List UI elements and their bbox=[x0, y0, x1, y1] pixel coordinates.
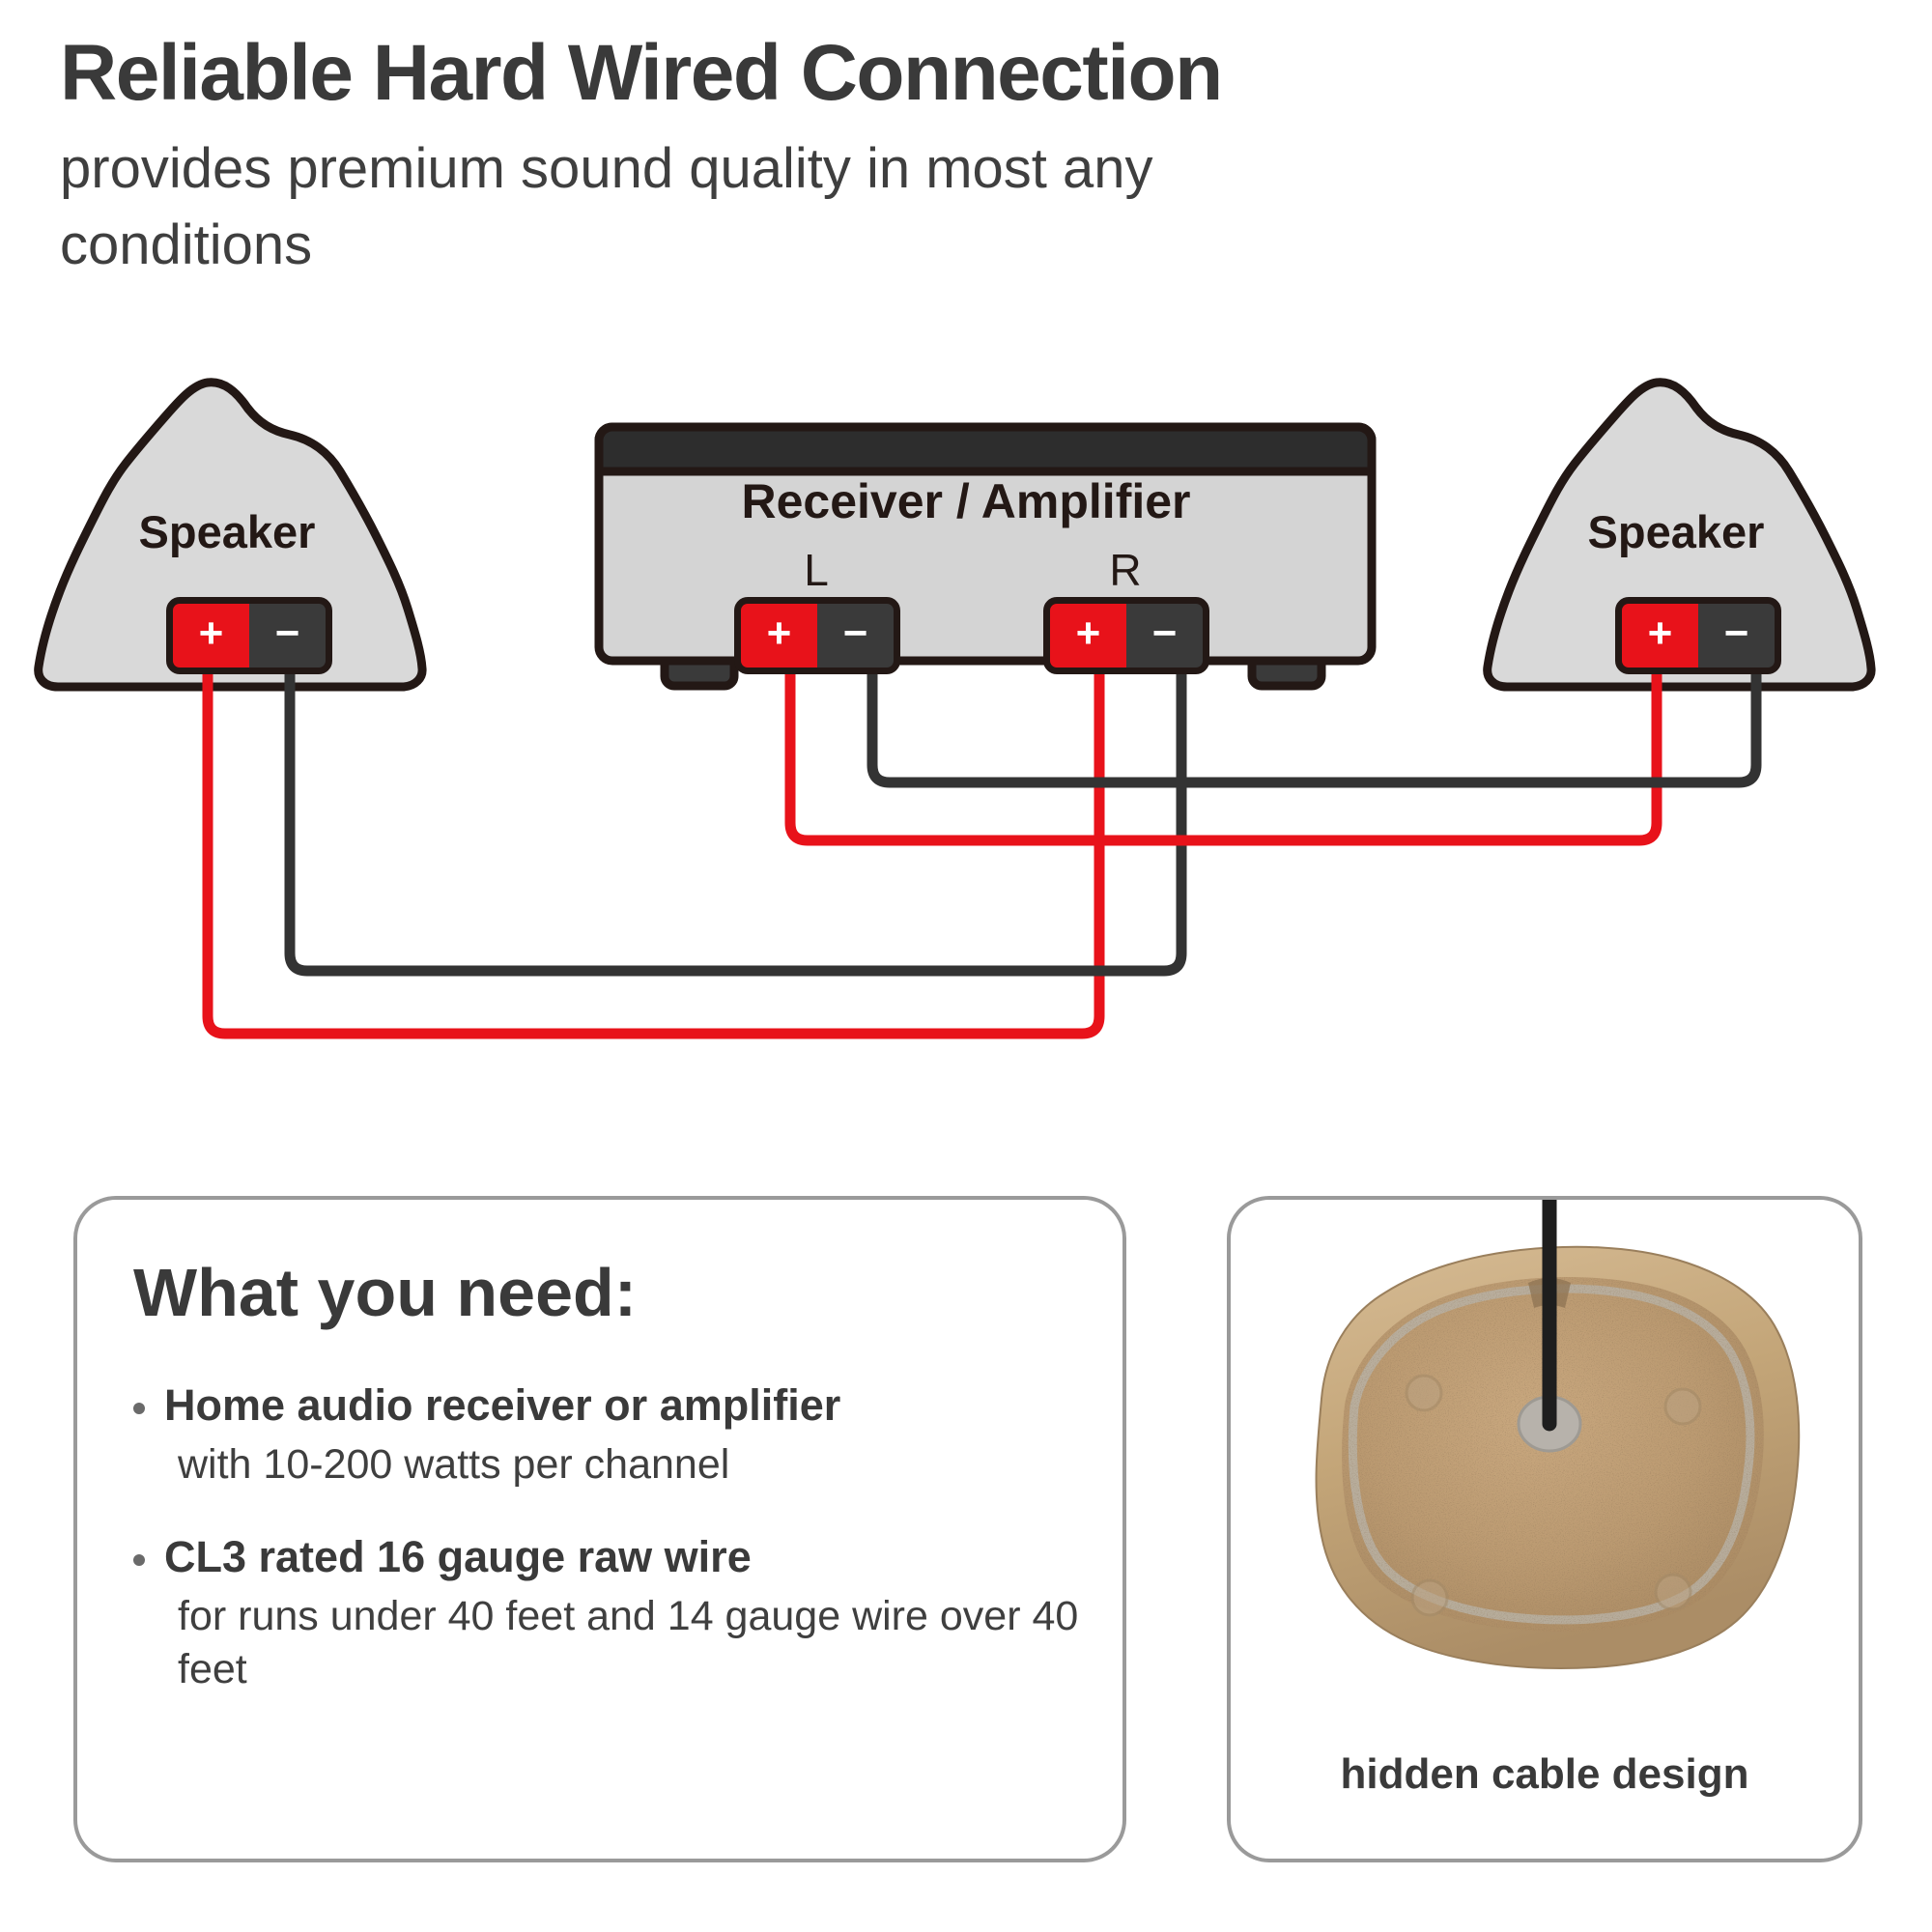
negative-sign: − bbox=[1724, 612, 1749, 655]
speaker-left-positive-terminal[interactable]: + bbox=[173, 604, 249, 668]
wire-red-right bbox=[790, 674, 1657, 840]
wire-dark-left bbox=[290, 674, 1181, 971]
hidden-cable-panel: hidden cable design bbox=[1227, 1196, 1862, 1862]
amp-left-positive-terminal[interactable]: + bbox=[741, 604, 817, 668]
page-subtitle: provides premium sound quality in most a… bbox=[60, 131, 1277, 284]
amp-right-terminal-block[interactable]: + − bbox=[1043, 597, 1209, 674]
speaker-left-terminal-block[interactable]: + − bbox=[166, 597, 332, 674]
speaker-right-terminal-block[interactable]: + − bbox=[1615, 597, 1781, 674]
receiver-top-bar bbox=[599, 427, 1372, 471]
list-item-detail: for runs under 40 feet and 14 gauge wire… bbox=[164, 1590, 1084, 1694]
list-item-heading: Home audio receiver or amplifier bbox=[164, 1379, 1084, 1431]
hidden-cable-caption: hidden cable design bbox=[1231, 1750, 1859, 1799]
amp-right-positive-terminal[interactable]: + bbox=[1050, 604, 1126, 668]
page-title: Reliable Hard Wired Connection bbox=[60, 33, 1876, 114]
negative-sign: − bbox=[275, 612, 300, 655]
wire-red-left bbox=[208, 674, 1099, 1034]
positive-sign: + bbox=[767, 612, 792, 655]
positive-sign: + bbox=[199, 612, 224, 655]
list-item: Home audio receiver or amplifier with 10… bbox=[120, 1379, 1084, 1491]
what-you-need-title: What you need: bbox=[133, 1254, 637, 1331]
what-you-need-panel: What you need: Home audio receiver or am… bbox=[73, 1196, 1126, 1862]
diagram-graphics bbox=[0, 367, 1932, 1063]
speaker-left-negative-terminal[interactable]: − bbox=[249, 604, 326, 668]
negative-sign: − bbox=[1152, 612, 1178, 655]
list-item-detail: with 10-200 watts per channel bbox=[164, 1438, 1084, 1491]
speaker-right-label: Speaker bbox=[1555, 505, 1797, 558]
channel-right-label: R bbox=[1082, 544, 1169, 596]
positive-sign: + bbox=[1076, 612, 1101, 655]
header: Reliable Hard Wired Connection provides … bbox=[60, 33, 1876, 283]
amp-left-terminal-block[interactable]: + − bbox=[734, 597, 900, 674]
wiring-diagram: Speaker Speaker Receiver / Amplifier L R… bbox=[0, 367, 1932, 1063]
channel-left-label: L bbox=[773, 544, 860, 596]
list-item: CL3 rated 16 gauge raw wire for runs und… bbox=[120, 1531, 1084, 1694]
amp-right-negative-terminal[interactable]: − bbox=[1126, 604, 1203, 668]
receiver-title: Receiver / Amplifier bbox=[599, 473, 1333, 529]
rock-speaker-underside-photo bbox=[1231, 1200, 1862, 1741]
positive-sign: + bbox=[1648, 612, 1673, 655]
list-item-heading: CL3 rated 16 gauge raw wire bbox=[164, 1531, 1084, 1582]
speaker-right-positive-terminal[interactable]: + bbox=[1622, 604, 1698, 668]
negative-sign: − bbox=[843, 612, 868, 655]
speaker-left-label: Speaker bbox=[106, 505, 348, 558]
speaker-right-negative-terminal[interactable]: − bbox=[1698, 604, 1775, 668]
amp-left-negative-terminal[interactable]: − bbox=[817, 604, 894, 668]
what-you-need-list: Home audio receiver or amplifier with 10… bbox=[120, 1379, 1084, 1736]
